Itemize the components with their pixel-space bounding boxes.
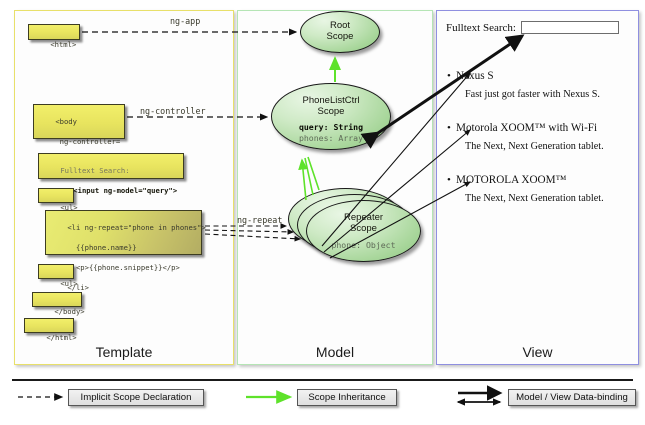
phone-snippet: Fast just got faster with Nexus S. [465,89,632,100]
code-text-li-l3: <p>{{phone.snippet}}</p> [67,263,180,272]
legend-item-scope-inheritance: Scope Inheritance [297,389,397,406]
legend-item-model-view-data-binding: Model / View Data-binding [508,389,636,406]
legend-label-inheritance: Scope Inheritance [308,392,385,403]
phone-snippet: The Next, Next Generation tablet. [465,141,632,152]
code-text-search-l2: <input ng-model="query"> [60,186,177,195]
diagram-canvas: Template Model View <html> <body ng-cont… [0,0,645,425]
legend-label-implicit: Implicit Scope Declaration [81,392,192,403]
rendered-view: Fulltext Search: Nexus S Fast just got f… [444,18,632,348]
scope-root-title-1: Root [330,20,350,31]
legend-item-implicit-scope-declaration: Implicit Scope Declaration [68,389,204,406]
code-text-li-l2: {{phone.name}} [67,243,136,252]
scope-ellipse-phonelistctrl: PhoneListCtrl Scope query: String phones… [271,83,391,150]
code-box-html-open: <html> [28,24,80,40]
search-label: Fulltext Search: [446,22,516,34]
code-text-li-l1: <li ng-repeat="phone in phones"> [67,223,205,232]
phone-name: MOTOROLA XOOM™ [456,174,632,186]
search-input[interactable] [521,21,619,34]
phone-list-item: Motorola XOOM™ with Wi-Fi The Next, Next… [456,122,632,152]
scope-ellipse-repeater: Repeater Scope phone: Object [306,200,421,262]
code-text-search-l1: Fulltext Search: [60,166,129,175]
scope-ctrl-prop-query: query: String [272,122,390,133]
code-box-ul-open: <ul> [38,188,74,203]
code-box-body-close: </body> [32,292,82,307]
legend-arrow-double [458,393,500,402]
edge-label-ng-repeat: ng-repeat [237,215,282,225]
code-text-ul-close: <ul> [60,279,77,288]
code-box-body-open: <body ng-controller= "PhoneListCtrl"> [33,104,125,139]
code-box-search-markup: Fulltext Search: <input ng-model="query"… [38,153,184,179]
code-text-body-l1: <body [55,117,77,126]
code-text-html-close: </html> [46,333,76,342]
legend-label-databinding: Model / View Data-binding [516,392,628,403]
phone-snippet: The Next, Next Generation tablet. [465,193,632,204]
view-search-row: Fulltext Search: [446,21,619,34]
edge-label-ng-app: ng-app [170,16,200,26]
scope-ellipse-root: Root Scope [300,11,380,53]
code-box-li-repeat: <li ng-repeat="phone in phones"> {{phone… [45,210,202,255]
column-label-model: Model [238,344,432,360]
scope-repeater-title-2: Scope [350,223,377,234]
scope-repeater-title-1: Repeater [344,212,383,223]
code-text-body-l2: ng-controller= [55,137,120,146]
scope-repeater-prop-phone: phone: Object [307,240,420,251]
code-box-html-close: </html> [24,318,74,333]
code-text-body-close: </body> [54,307,84,316]
scope-ctrl-prop-phones: phones: Array [272,133,390,144]
legend-divider [12,379,633,381]
phone-list-item: MOTOROLA XOOM™ The Next, Next Generation… [456,174,632,204]
code-text-html-open: <html> [50,40,76,49]
code-box-ul-close: <ul> [38,264,74,279]
phone-name: Motorola XOOM™ with Wi-Fi [456,122,632,134]
phone-list-item: Nexus S Fast just got faster with Nexus … [456,70,632,100]
phone-name: Nexus S [456,70,632,82]
edge-label-ng-controller: ng-controller [140,106,206,116]
column-label-template: Template [15,344,233,360]
scope-ctrl-title-1: PhoneListCtrl [302,95,359,106]
scope-ctrl-title-2: Scope [318,106,345,117]
scope-root-title-2: Scope [327,31,354,42]
